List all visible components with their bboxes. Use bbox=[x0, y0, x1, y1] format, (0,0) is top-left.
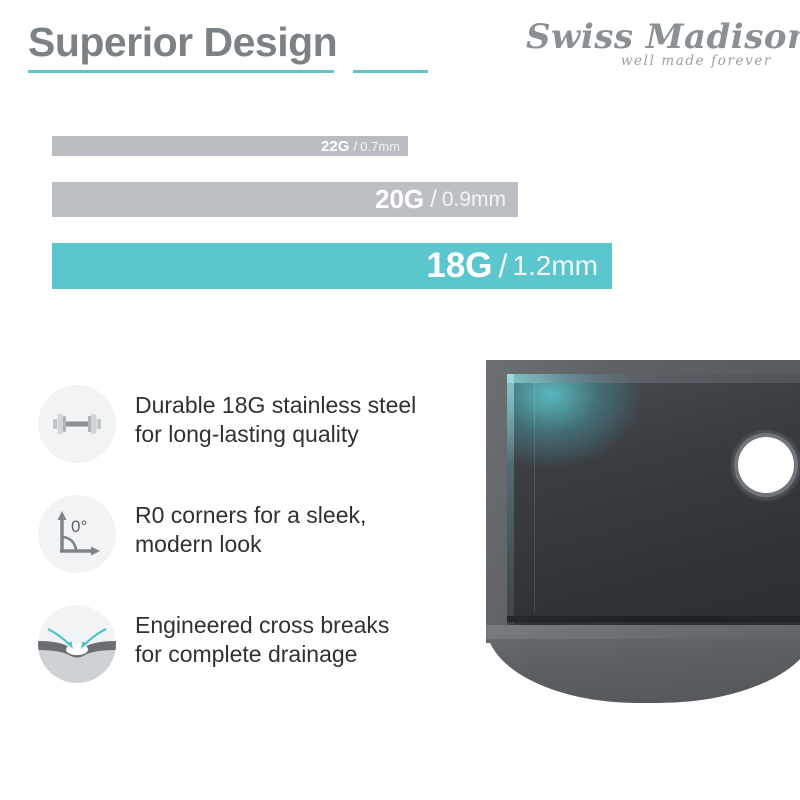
sink-drain-hole bbox=[738, 437, 794, 493]
gauge-bar-20g-label: 20G bbox=[375, 184, 424, 215]
sink-basin-left-edge bbox=[507, 374, 514, 629]
title-underline-gap bbox=[334, 70, 353, 73]
feature-item-drainage: Engineered cross breaks for complete dra… bbox=[38, 605, 468, 683]
feature-durability-line1: Durable 18G stainless steel bbox=[135, 391, 416, 420]
feature-text-durability: Durable 18G stainless steel for long-las… bbox=[135, 391, 416, 450]
brand-name: Swiss Madison® bbox=[526, 20, 776, 56]
sink-basin-inner-seam bbox=[534, 383, 535, 613]
feature-drainage-line2: for complete drainage bbox=[135, 640, 389, 669]
feature-item-durability: Durable 18G stainless steel for long-las… bbox=[38, 385, 468, 463]
title-underline-accent bbox=[28, 70, 428, 73]
sink-apron-highlight bbox=[486, 625, 800, 639]
brand-logo: Swiss Madison® well made forever bbox=[526, 20, 776, 82]
feature-durability-line2: for long-lasting quality bbox=[135, 420, 416, 449]
feature-list: Durable 18G stainless steel for long-las… bbox=[38, 385, 468, 715]
dumbbell-icon bbox=[38, 385, 116, 463]
cross-break-drainage-icon bbox=[38, 605, 116, 683]
feature-text-drainage: Engineered cross breaks for complete dra… bbox=[135, 611, 389, 670]
gauge-bar-20g-thickness: 0.9mm bbox=[442, 188, 506, 212]
gauge-bar-20g: 20G / 0.9mm bbox=[52, 182, 518, 217]
gauge-bar-20g-separator: / bbox=[430, 186, 437, 214]
sink-basin-top-edge bbox=[507, 374, 800, 383]
gauge-bar-22g-separator: / bbox=[353, 138, 357, 154]
feature-corners-line2: modern look bbox=[135, 530, 366, 559]
sink-basin bbox=[507, 374, 800, 629]
sink-basin-bottom-edge bbox=[507, 616, 800, 622]
feature-corners-line1: R0 corners for a sleek, bbox=[135, 501, 366, 530]
product-image-sink bbox=[486, 360, 800, 710]
page-title: Superior Design bbox=[28, 22, 337, 63]
gauge-bar-18g-label: 18G bbox=[426, 246, 492, 286]
gauge-bar-22g: 22G / 0.7mm bbox=[52, 136, 408, 156]
feature-item-corners: 0° R0 corners for a sleek, modern look bbox=[38, 495, 468, 573]
feature-text-corners: R0 corners for a sleek, modern look bbox=[135, 501, 366, 560]
angle-zero-degrees-icon: 0° bbox=[38, 495, 116, 573]
gauge-bar-22g-label: 22G bbox=[321, 138, 349, 155]
gauge-bar-22g-thickness: 0.7mm bbox=[360, 139, 400, 154]
gauge-bar-18g-separator: / bbox=[499, 248, 508, 285]
brand-name-text: Swiss Madison bbox=[526, 17, 800, 57]
svg-text:0°: 0° bbox=[71, 517, 87, 536]
feature-drainage-line1: Engineered cross breaks bbox=[135, 611, 389, 640]
gauge-bar-18g: 18G / 1.2mm bbox=[52, 243, 612, 289]
gauge-bar-18g-thickness: 1.2mm bbox=[512, 250, 598, 282]
